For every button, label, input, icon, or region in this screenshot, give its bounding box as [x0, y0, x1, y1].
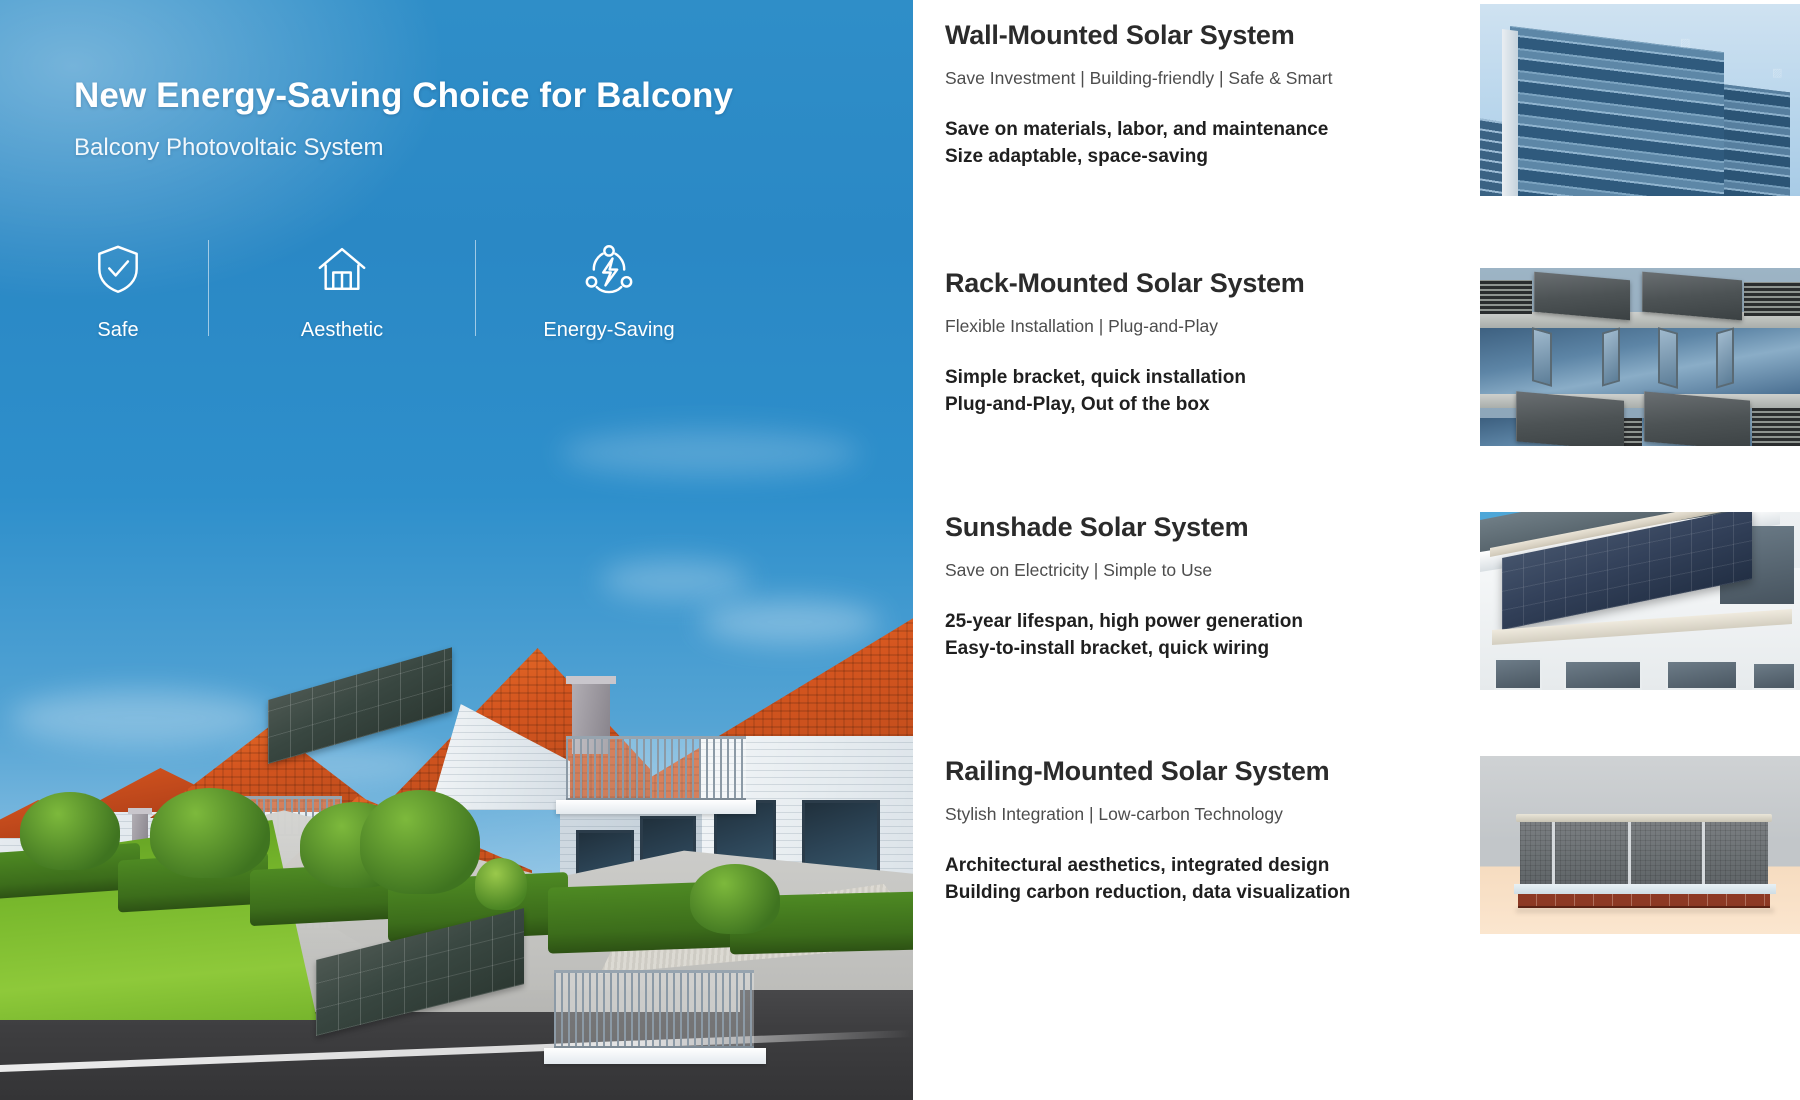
card-tagline: Flexible Installation | Plug-and-Play: [945, 316, 1383, 337]
card-body: Architectural aesthetics, integrated des…: [945, 853, 1383, 907]
railing-panel-render: [1480, 756, 1800, 934]
card-body-line-1: Simple bracket, quick installation: [945, 365, 1383, 392]
feature-safe: Safe: [74, 241, 162, 342]
highrise-building-photo: ▨ ▨: [1480, 4, 1800, 196]
card-tagline: Save on Electricity | Simple to Use: [945, 560, 1383, 581]
card-body: 25-year lifespan, high power generation …: [945, 609, 1383, 663]
feature-aesthetic: Aesthetic: [255, 241, 429, 342]
product-list-panel: Wall-Mounted Solar System Save Investmen…: [913, 0, 1800, 1100]
card-text: Railing-Mounted Solar System Stylish Int…: [913, 756, 1383, 907]
card-body: Save on materials, labor, and maintenanc…: [945, 117, 1383, 171]
shield-check-icon: [90, 241, 146, 297]
sunshade-awning-photo: [1480, 512, 1800, 690]
feature-divider: [208, 240, 209, 336]
watermark: ▨: [1772, 66, 1782, 79]
card-body-line-1: 25-year lifespan, high power generation: [945, 609, 1383, 636]
card-title: Railing-Mounted Solar System: [945, 756, 1383, 787]
card-title: Rack-Mounted Solar System: [945, 268, 1383, 299]
hero-copy: New Energy-Saving Choice for Balcony Bal…: [74, 76, 834, 162]
card-thumbnail[interactable]: [1480, 268, 1800, 446]
card-wall-mounted[interactable]: Wall-Mounted Solar System Save Investmen…: [913, 20, 1800, 171]
shrub: [475, 858, 527, 910]
energy-bolt-icon: [581, 241, 637, 297]
hero-panel: New Energy-Saving Choice for Balcony Bal…: [0, 0, 913, 1100]
feature-label: Energy-Saving: [543, 319, 674, 342]
page-subtitle: Balcony Photovoltaic System: [74, 134, 834, 162]
card-body-line-2: Plug-and-Play, Out of the box: [945, 392, 1383, 419]
card-body-line-2: Easy-to-install bracket, quick wiring: [945, 636, 1383, 663]
balcony-solar-panel: [268, 647, 452, 764]
card-text: Sunshade Solar System Save on Electricit…: [913, 512, 1383, 663]
feature-row: Safe Aesthetic: [74, 222, 696, 342]
card-title: Wall-Mounted Solar System: [945, 20, 1383, 51]
card-tagline: Save Investment | Building-friendly | Sa…: [945, 68, 1383, 89]
shrub: [690, 864, 780, 934]
shrub: [360, 790, 480, 894]
card-railing-mounted[interactable]: Railing-Mounted Solar System Stylish Int…: [913, 756, 1800, 907]
card-body-line-2: Building carbon reduction, data visualiz…: [945, 880, 1383, 907]
card-sunshade[interactable]: Sunshade Solar System Save on Electricit…: [913, 512, 1800, 663]
card-thumbnail[interactable]: ▨ ▨: [1480, 4, 1800, 196]
balcony-railing: [566, 736, 746, 800]
card-title: Sunshade Solar System: [945, 512, 1383, 543]
facade-solar-panels-photo: [1480, 268, 1800, 446]
feature-label: Safe: [97, 319, 138, 342]
poster-page: New Energy-Saving Choice for Balcony Bal…: [0, 0, 1800, 1100]
page-title: New Energy-Saving Choice for Balcony: [74, 76, 834, 116]
card-rack-mounted[interactable]: Rack-Mounted Solar System Flexible Insta…: [913, 268, 1800, 419]
feature-energy-saving: Energy-Saving: [522, 241, 696, 342]
cloud: [560, 430, 860, 476]
balcony-railing: [554, 970, 754, 1048]
feature-label: Aesthetic: [301, 319, 383, 342]
card-thumbnail[interactable]: [1480, 756, 1800, 934]
balcony-slab: [556, 800, 756, 814]
house-icon: [314, 241, 370, 297]
card-body: Simple bracket, quick installation Plug-…: [945, 365, 1383, 419]
residential-buildings-photo: [0, 500, 913, 1100]
card-thumbnail[interactable]: [1480, 512, 1800, 690]
balcony-slab: [544, 1048, 766, 1064]
card-body-line-1: Architectural aesthetics, integrated des…: [945, 853, 1383, 880]
card-text: Wall-Mounted Solar System Save Investmen…: [913, 20, 1383, 171]
card-body-line-2: Size adaptable, space-saving: [945, 144, 1383, 171]
feature-divider: [475, 240, 476, 336]
shrub: [20, 792, 120, 870]
card-tagline: Stylish Integration | Low-carbon Technol…: [945, 804, 1383, 825]
card-body-line-1: Save on materials, labor, and maintenanc…: [945, 117, 1383, 144]
shrub: [150, 788, 270, 878]
card-text: Rack-Mounted Solar System Flexible Insta…: [913, 268, 1383, 419]
